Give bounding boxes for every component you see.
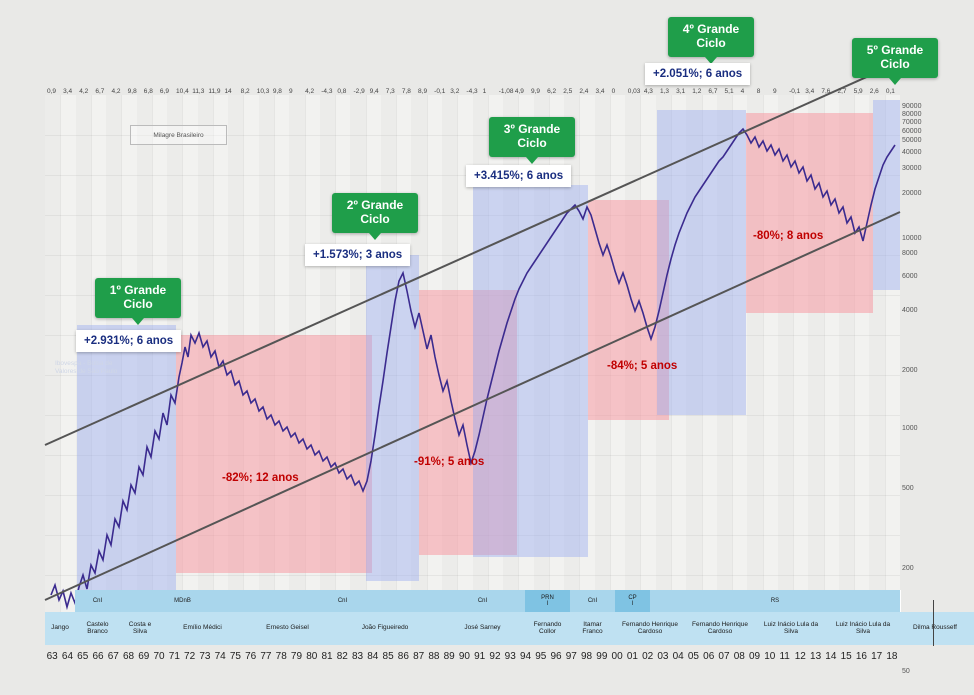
chart-root: Milagre Brasileiro Ibovespa - Bolsa deVa… [0,0,974,695]
year-tick: 82 [337,651,348,662]
president-cell: João Figueiredo [330,612,441,645]
annual-return-value: -2,9 [354,88,365,95]
annual-return-value: 9 [289,88,293,95]
price-tick: 500 [902,485,914,492]
price-tick: 4000 [902,307,918,314]
year-tick: 66 [92,651,103,662]
year-tick: 75 [230,651,241,662]
annual-return-value: 9,9 [531,88,540,95]
price-tick: 90000 [902,103,921,110]
year-tick: 80 [306,651,317,662]
annual-return-value: 5,1 [725,88,734,95]
year-tick: 81 [321,651,332,662]
year-tick: 15 [841,651,852,662]
president-cell: Jango [45,612,76,645]
president-row: JangoCasteloBrancoCosta eSilvaEmílio Méd… [45,612,900,645]
year-tick: 18 [886,651,897,662]
annual-return-value: 4,3 [644,88,653,95]
annual-return-value: 2,7 [837,88,846,95]
year-tick: 08 [734,651,745,662]
price-tick: 50000 [902,137,921,144]
party-cell: RS [650,590,901,612]
president-cell: Emílio Médici [160,612,246,645]
year-tick: 94 [520,651,531,662]
cycle-5-bubble: 5º GrandeCiclo [852,38,938,78]
annual-return-value: 0,03 [628,88,641,95]
year-tick: 77 [260,651,271,662]
annual-return-value: -0,1 [434,88,445,95]
year-tick: 98 [581,651,592,662]
year-tick: 74 [215,651,226,662]
annual-return-value: -1,08 [499,88,514,95]
annual-return-value: 2,4 [579,88,588,95]
year-tick: 91 [474,651,485,662]
year-tick: 88 [428,651,439,662]
annual-return-value: 3,4 [595,88,604,95]
year-tick: 69 [138,651,149,662]
annual-return-value: 4,9 [515,88,524,95]
annual-return-value: 10,4 [176,88,189,95]
year-tick: 99 [596,651,607,662]
cycle-3-loss-label: -84%; 5 anos [607,360,677,372]
annual-return-value: 14 [224,88,231,95]
cycle-1-bubble: 1º GrandeCiclo [95,278,181,318]
annual-return-value: 5,9 [854,88,863,95]
year-tick: 04 [673,651,684,662]
price-tick: 20000 [902,190,921,197]
annual-return-value: 3,1 [676,88,685,95]
annual-return-value: 6,7 [708,88,717,95]
year-tick: 13 [810,651,821,662]
president-cell: Ernesto Geisel [245,612,331,645]
annual-return-value: 4,2 [305,88,314,95]
year-tick: 01 [627,651,638,662]
annual-return-value: 1,2 [692,88,701,95]
party-row: CnIMDnBCnICnIPRNICnICPIRS [45,590,900,612]
price-tick: 80000 [902,111,921,118]
annual-return-value: -4,3 [321,88,332,95]
year-tick: 95 [535,651,546,662]
annual-return-value: 6,9 [160,88,169,95]
president-cell: Luiz Inácio Lula daSilva [755,612,828,645]
annual-return-value: 7,3 [386,88,395,95]
annual-return-value: 8,9 [418,88,427,95]
year-tick: 90 [459,651,470,662]
year-tick: 16 [856,651,867,662]
president-cell: Fernando HenriqueCardoso [685,612,756,645]
annual-return-value: 8,2 [241,88,250,95]
year-tick: 68 [123,651,134,662]
cycle-4-bubble: 4º GrandeCiclo [668,17,754,57]
cycle-4-loss-label: -80%; 8 anos [753,230,823,242]
year-tick: 78 [276,651,287,662]
year-tick: 10 [764,651,775,662]
president-cell: FernandoCollor [525,612,571,645]
annual-return-value: 9,8 [128,88,137,95]
annual-return-value: -4,3 [466,88,477,95]
annual-return-value: 0,1 [886,88,895,95]
annual-return-value: 9,4 [370,88,379,95]
annual-return-value: 3,4 [63,88,72,95]
price-tick: 10000 [902,235,921,242]
annual-return-value: 9 [773,88,777,95]
band-divider [933,600,934,646]
annual-return-value: 11,3 [192,88,204,95]
price-tick: 1000 [902,425,918,432]
year-tick: 03 [657,651,668,662]
annual-return-value: 0 [612,88,616,95]
party-cell: CnI [245,590,441,612]
year-tick: 70 [154,651,165,662]
year-tick: 71 [169,651,180,662]
year-tick: 85 [383,651,394,662]
annual-return-value: 9,8 [273,88,282,95]
president-cell: José Sarney [440,612,526,645]
price-tick: 30000 [902,165,921,172]
year-tick: 12 [795,651,806,662]
cycle-2-gain-label: +1.573%; 3 anos [305,244,410,266]
cycle-1-gain-label: +2.931%; 6 anos [76,330,181,352]
year-tick: 79 [291,651,302,662]
year-tick: 11 [779,651,789,662]
price-tick: 70000 [902,119,921,126]
cycle-4-gain-label: +2.051%; 6 anos [645,63,750,85]
annual-return-value: 8 [757,88,761,95]
party-cell: CPI [615,590,651,612]
annual-return-value: -0,1 [789,88,800,95]
annual-return-value: 4,2 [79,88,88,95]
annual-return-value: 1,3 [660,88,669,95]
party-cell: CnI [570,590,616,612]
year-tick: 00 [612,651,623,662]
year-tick: 89 [444,651,455,662]
annual-return-value: 7,8 [402,88,411,95]
annual-return-value: 4,2 [112,88,121,95]
year-tick: 14 [825,651,836,662]
year-tick: 97 [566,651,577,662]
year-tick: 05 [688,651,699,662]
year-tick: 63 [47,651,58,662]
price-axis: 5010020050010002000400060008000100002000… [900,95,974,645]
cycle-3-gain-label: +3.415%; 6 anos [466,165,571,187]
cycle-2-loss-label: -91%; 5 anos [414,456,484,468]
price-tick: 200 [902,565,914,572]
party-cell: PRNI [525,590,571,612]
annual-return-value: 0,8 [337,88,346,95]
annual-return-value: 2,5 [563,88,572,95]
price-tick: 40000 [902,149,921,156]
annual-return-value: 10,3 [257,88,270,95]
year-tick: 93 [505,651,516,662]
annual-return-value: 7,6 [821,88,830,95]
cycle-1-loss-label: -82%; 12 anos [222,472,299,484]
annual-return-value: 2,6 [870,88,879,95]
president-cell: Luiz Inácio Lula daSilva [827,612,900,645]
president-cell: Fernando HenriqueCardoso [615,612,686,645]
price-tick: 50 [902,668,910,675]
party-cell: CnI [440,590,526,612]
annual-return-value: 3,2 [450,88,459,95]
annual-return-row: 0,93,44,26,74,29,86,86,910,411,311,9148,… [45,88,900,98]
president-cell: CasteloBranco [75,612,121,645]
year-tick: 02 [642,651,653,662]
annual-return-value: 0,9 [47,88,56,95]
president-cell: Costa eSilva [120,612,161,645]
price-tick: 60000 [902,128,921,135]
year-tick: 86 [398,651,409,662]
party-cell: MDnB [120,590,246,612]
year-tick: 76 [245,651,256,662]
year-tick: 92 [489,651,500,662]
party-cell: CnI [75,590,121,612]
presidents-band: CnIMDnBCnICnIPRNICnICPIRS JangoCasteloBr… [45,590,900,645]
price-tick: 2000 [902,367,918,374]
year-tick: 06 [703,651,714,662]
year-tick: 72 [184,651,195,662]
president-cell: ItamarFranco [570,612,616,645]
annual-return-value: 6,7 [95,88,104,95]
cycle-3-bubble: 3º GrandeCiclo [489,117,575,157]
year-tick: 65 [77,651,88,662]
annual-return-value: 1 [483,88,487,95]
price-tick: 6000 [902,273,918,280]
year-tick: 96 [550,651,561,662]
annual-return-value: 11,9 [208,88,220,95]
year-tick: 64 [62,651,73,662]
annual-return-value: 4 [741,88,745,95]
year-tick: 09 [749,651,760,662]
price-tick: 8000 [902,250,918,257]
annual-return-value: 6,2 [547,88,556,95]
year-tick: 84 [367,651,378,662]
year-tick: 83 [352,651,363,662]
year-axis: 6364656667686970717273747576777879808182… [40,651,908,667]
year-tick: 67 [108,651,119,662]
year-tick: 07 [718,651,729,662]
year-tick: 87 [413,651,424,662]
annual-return-value: 3,4 [805,88,814,95]
cycle-2-bubble: 2º GrandeCiclo [332,193,418,233]
year-tick: 17 [871,651,882,662]
annual-return-value: 6,8 [144,88,153,95]
president-cell: Dilma Rousseff [899,612,972,645]
year-tick: 73 [199,651,210,662]
